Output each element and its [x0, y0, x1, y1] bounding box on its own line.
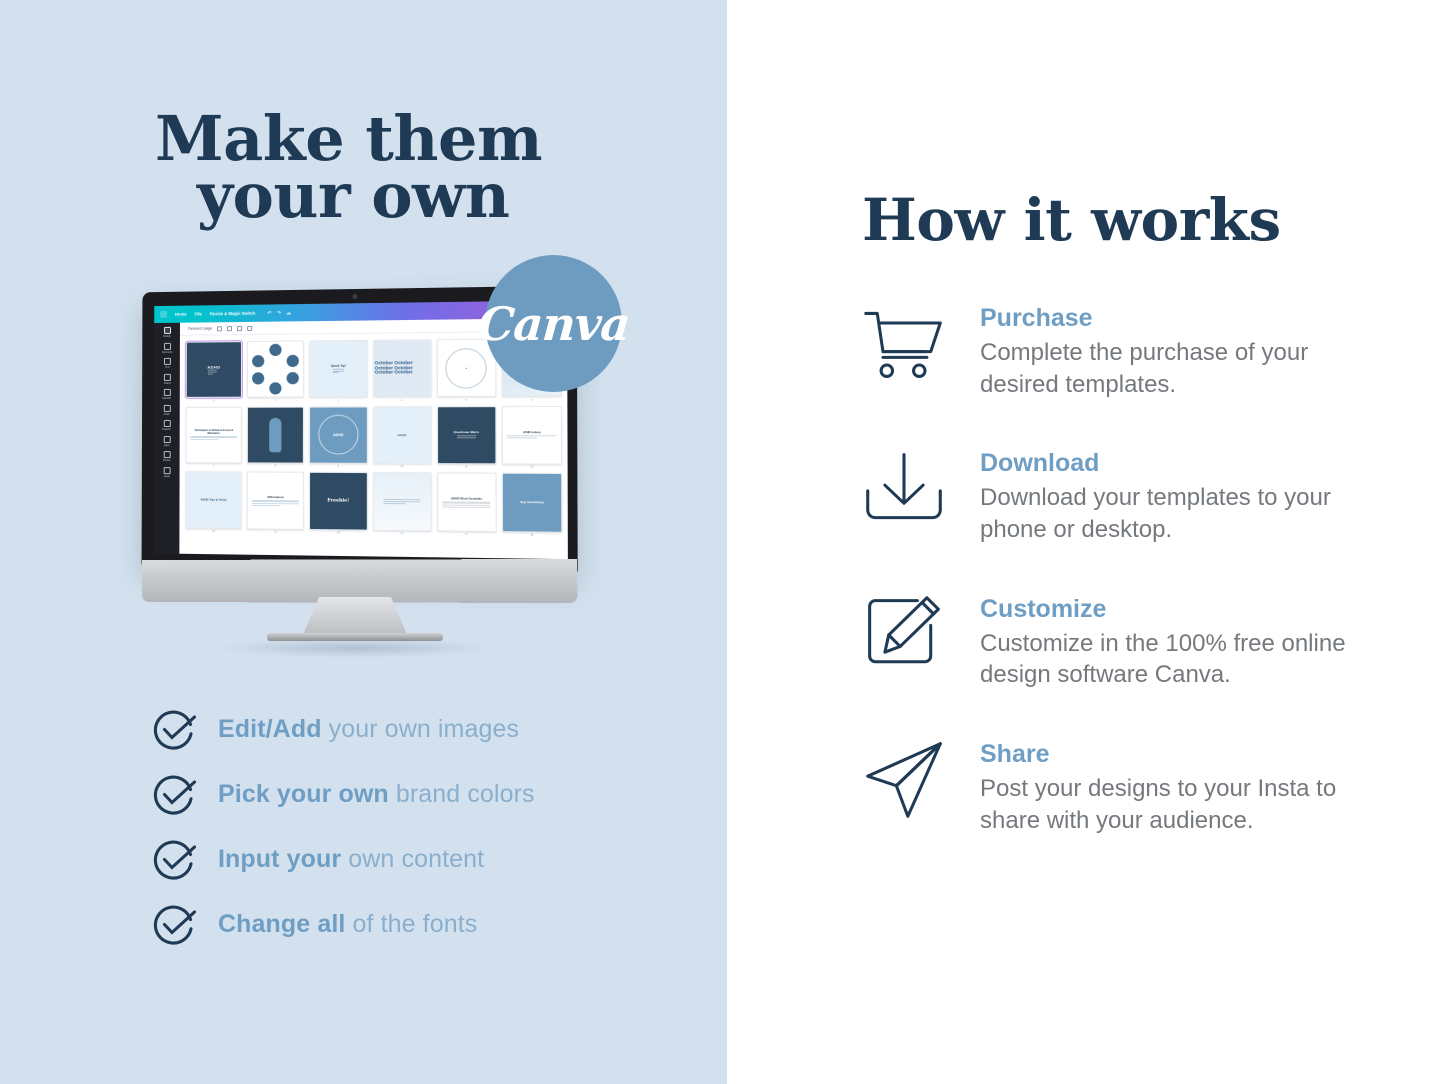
thumbnail-cell[interactable]: 2 — [247, 341, 304, 403]
page-thumbnail[interactable] — [247, 341, 304, 398]
thumbnail-title: Eisenhower Matrix — [454, 431, 479, 434]
thumbnail-title: October October October October October … — [375, 361, 430, 376]
page-thumbnail[interactable] — [373, 472, 432, 530]
thumbnail-title: ADHD — [207, 364, 220, 369]
thumbnail-number: 11 — [465, 466, 468, 469]
sidebar-item-brand[interactable]: Brand — [154, 373, 180, 384]
thumbnail-cell[interactable]: Techniques to Enhance Focus & Motivation… — [186, 406, 243, 467]
thumbnail-cell[interactable]: ADHD 1 — [186, 341, 242, 402]
step-item: Share Post your designs to your Insta to… — [860, 736, 1380, 836]
checklist-item-rest: of the fonts — [345, 910, 477, 938]
shopping-cart-icon — [860, 300, 948, 388]
paper-plane-icon — [860, 736, 948, 824]
photos-icon — [163, 451, 170, 458]
design-icon — [164, 327, 171, 334]
redo-icon[interactable]: ↷ — [277, 310, 281, 316]
thumbnail-cell[interactable]: ADHD 10 — [373, 406, 432, 469]
checklist-item-rest: own content — [341, 845, 484, 873]
monitor-chin — [142, 559, 577, 603]
thumbnail-number: 13 — [212, 530, 215, 533]
checklist-item: Change all of the fonts — [150, 892, 710, 957]
hamburger-icon[interactable] — [160, 311, 167, 318]
page-thumbnail[interactable]: ADHD — [186, 341, 242, 398]
feature-checklist: Edit/Add your own images Pick your own b… — [150, 697, 710, 957]
topbar-item-file[interactable]: File — [195, 311, 202, 316]
thumbnail-title: ADHD Tips & Tricks — [200, 498, 226, 502]
thumbnail-cell[interactable]: 8 — [247, 406, 304, 468]
step-description: Complete the purchase of your desired te… — [980, 337, 1380, 400]
thumbnail-number: 17 — [465, 533, 468, 536]
thumbnail-title: Quick Tip! — [331, 364, 346, 368]
sidebar-item-apps[interactable]: Apps — [154, 436, 180, 447]
thumbnail-title: ADHD — [397, 433, 406, 437]
thumbnail-cell[interactable]: ADHD 9 — [309, 406, 367, 468]
monitor-stand-neck — [302, 597, 408, 637]
brand-icon — [163, 373, 170, 380]
thumbnail-cell[interactable]: ADHD Tips & Tricks 13 — [185, 472, 242, 534]
page-thumbnail[interactable]: ADHD — [309, 406, 367, 464]
thumbnail-cell[interactable]: Freebie! 15 — [309, 472, 367, 535]
thumbnail-number: 5 — [466, 399, 468, 402]
thumbnail-cell[interactable]: 16 — [373, 472, 432, 535]
thumbnail-cell[interactable]: Affirmations 14 — [247, 472, 304, 534]
magic-icon[interactable] — [237, 326, 242, 331]
page-thumbnail[interactable]: ADHD Word Scramble — [437, 473, 497, 532]
step-title: Download — [980, 449, 1380, 478]
step-description: Download your templates to your phone or… — [980, 482, 1380, 545]
canva-sidebar: Design Elements Text Brand — [153, 323, 179, 554]
text-icon — [163, 358, 170, 365]
undo-redo-group[interactable]: ↶ ↷ ☁ — [267, 310, 291, 316]
sidebar-item-projects[interactable]: Projects — [154, 420, 180, 431]
sidebar-item-text[interactable]: Text — [154, 358, 180, 369]
webcam-icon — [352, 294, 357, 299]
sidebar-item-uploads[interactable]: Uploads — [154, 389, 180, 400]
thumbnail-number: 6 — [531, 398, 533, 401]
checklist-item-bold: Pick your own — [218, 780, 389, 808]
uploads-icon — [163, 389, 170, 396]
page-thumbnail[interactable]: Quick Tip! — [309, 340, 367, 398]
sidebar-item-design[interactable]: Design — [154, 327, 180, 338]
checklist-item-label: Input your own content — [218, 845, 484, 874]
thumbnail-number: 12 — [530, 466, 533, 469]
step-description: Customize in the 100% free online design… — [980, 628, 1380, 691]
thumbnail-title: Freebie! — [327, 498, 349, 503]
circle-diagram-icon — [248, 342, 303, 397]
checklist-item-label: Change all of the fonts — [218, 910, 477, 939]
checklist-item-bold: Change all — [218, 910, 345, 938]
thumbnail-cell[interactable]: ADHD Word Scramble 17 — [437, 473, 497, 537]
step-title: Share — [980, 740, 1380, 769]
step-description: Post your designs to your Insta to share… — [980, 773, 1380, 836]
sidebar-item-photos[interactable]: Photos — [154, 451, 180, 462]
thumbnail-number: 7 — [213, 465, 214, 468]
elements-icon — [164, 342, 171, 349]
thumbnail-number: 3 — [338, 399, 340, 402]
thumbnail-title: ADHD — [333, 433, 344, 437]
page-thumbnail[interactable]: Eisenhower Matrix — [437, 406, 497, 464]
checklist-item-label: Edit/Add your own images — [218, 715, 519, 744]
monitor-stand-base — [267, 633, 443, 641]
thumbnail-cell[interactable]: October October October October October … — [373, 339, 432, 402]
thumbnail-title: ADHD Iceberg — [507, 431, 557, 434]
checklist-item: Edit/Add your own images — [150, 697, 710, 762]
check-circle-icon — [150, 901, 198, 949]
apps-icon — [163, 436, 170, 443]
projects-icon — [163, 420, 170, 427]
step-title: Customize — [980, 595, 1380, 624]
canva-badge-label: Canva — [476, 297, 631, 351]
check-circle-icon — [150, 836, 198, 884]
page-thumbnail[interactable]: ADHD Tips & Tricks — [185, 472, 242, 529]
page-thumbnail[interactable]: Freebie! — [309, 472, 367, 530]
page-thumbnail[interactable] — [247, 406, 304, 463]
sidebar-item-label: Photos — [163, 459, 171, 462]
step-body: Share Post your designs to your Insta to… — [980, 736, 1380, 836]
sidebar-item-label: Uploads — [162, 397, 171, 400]
monitor-shadow — [215, 638, 495, 658]
headline-line-2: your own — [155, 167, 675, 224]
thumbnail-number: 16 — [400, 532, 403, 535]
undo-icon[interactable]: ↶ — [267, 310, 271, 316]
thumbnail-number: 14 — [274, 531, 277, 534]
checklist-item-rest: brand colors — [389, 780, 535, 808]
checklist-item: Pick your own brand colors — [150, 762, 710, 827]
step-item: Download Download your templates to your… — [860, 445, 1380, 545]
trash-icon[interactable] — [247, 325, 252, 330]
sidebar-item-label: Brand — [164, 381, 171, 384]
page-thumbnail[interactable]: October October October October October … — [373, 339, 432, 397]
thumbnail-number: 4 — [401, 399, 403, 402]
thumbnail-title: Stop Overthinking — [520, 501, 543, 504]
download-icon — [860, 445, 948, 533]
deselect-page-button[interactable]: Deselect page — [188, 326, 212, 330]
ring-diagram-icon: ● — [446, 348, 487, 389]
thumbnail-cell[interactable]: Stop Overthinking 18 — [502, 473, 563, 537]
sidebar-item-label: Audio — [163, 475, 169, 478]
check-circle-icon — [150, 771, 198, 819]
thumbnail-number: 10 — [400, 465, 403, 468]
thumbnail-number: 9 — [338, 465, 340, 468]
thumbnail-number: 8 — [275, 465, 276, 468]
thumbnail-number: 15 — [337, 531, 340, 534]
left-panel: Make them your own Home File Resize & Ma… — [0, 0, 727, 1084]
step-item: Purchase Complete the purchase of your d… — [860, 300, 1380, 400]
thumbnail-cell[interactable]: Quick Tip! 3 — [309, 340, 367, 402]
audio-icon — [163, 467, 170, 474]
sidebar-item-label: Elements — [162, 350, 172, 353]
step-title: Purchase — [980, 304, 1380, 333]
canva-badge: Canva — [485, 255, 622, 392]
draw-icon — [163, 404, 170, 411]
sidebar-item-elements[interactable]: Elements — [154, 342, 180, 353]
body-figure-icon — [269, 418, 281, 452]
expand-icon[interactable] — [217, 326, 222, 331]
thumbnail-title: Techniques to Enhance Focus & Motivation — [190, 429, 237, 435]
sidebar-item-audio[interactable]: Audio — [154, 467, 180, 478]
step-body: Purchase Complete the purchase of your d… — [980, 300, 1380, 400]
sidebar-item-label: Apps — [164, 444, 170, 447]
checklist-item-bold: Input your — [218, 845, 341, 873]
sidebar-item-label: Draw — [164, 413, 170, 416]
cloud-save-icon[interactable]: ☁ — [286, 310, 291, 316]
step-item: Customize Customize in the 100% free onl… — [860, 591, 1380, 691]
checklist-item-bold: Edit/Add — [218, 715, 322, 743]
page-thumbnail[interactable]: Stop Overthinking — [502, 473, 563, 532]
page-thumbnail[interactable]: Techniques to Enhance Focus & Motivation — [186, 406, 242, 463]
how-it-works-steps: Purchase Complete the purchase of your d… — [860, 300, 1380, 881]
thumbnail-title: ADHD Word Scramble — [442, 496, 490, 501]
thumbnail-number: 1 — [213, 399, 214, 402]
step-body: Customize Customize in the 100% free onl… — [980, 591, 1380, 691]
sidebar-item-draw[interactable]: Draw — [154, 404, 180, 415]
duplicate-icon[interactable] — [227, 326, 232, 331]
page-thumbnail[interactable]: ADHD Iceberg — [502, 406, 563, 465]
pencil-edit-icon — [860, 591, 948, 679]
sidebar-item-label: Text — [165, 366, 170, 369]
check-circle-icon — [150, 706, 198, 754]
step-body: Download Download your templates to your… — [980, 445, 1380, 545]
thumbnail-title: Affirmations — [252, 494, 298, 498]
thumbnail-cell[interactable]: ADHD Iceberg 12 — [502, 406, 563, 470]
how-it-works-title: How it works — [862, 186, 1281, 254]
thumbnail-number: 18 — [530, 534, 533, 537]
thumbnail-number: 2 — [275, 399, 276, 402]
checklist-item: Input your own content — [150, 827, 710, 892]
topbar-item-home[interactable]: Home — [175, 312, 187, 317]
topbar-item-resize-magic-switch[interactable]: Resize & Magic Switch — [210, 311, 255, 317]
sidebar-item-label: Projects — [162, 428, 171, 431]
sidebar-item-label: Design — [163, 335, 171, 338]
page-thumbnail[interactable]: Affirmations — [247, 472, 304, 530]
checklist-item-rest: your own images — [322, 715, 520, 743]
page-thumbnail[interactable]: ADHD — [373, 406, 432, 464]
page-title: Make them your own — [155, 110, 675, 224]
thumbnail-cell[interactable]: Eisenhower Matrix 11 — [437, 406, 497, 469]
checklist-item-label: Pick your own brand colors — [218, 780, 535, 809]
